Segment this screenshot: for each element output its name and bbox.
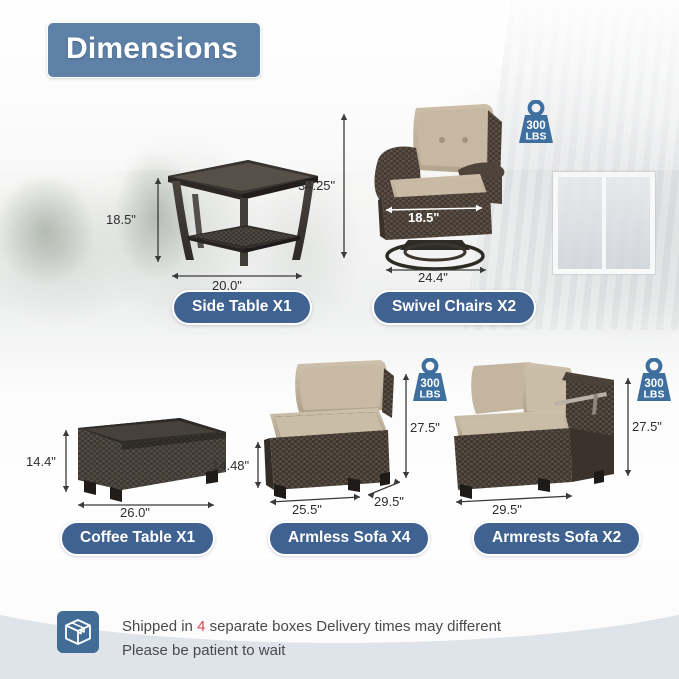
armless-sofa-depth-label: 29.5" [374, 494, 404, 509]
product-side-table: 18.5" 20.0" [150, 148, 340, 288]
label-swivel-chairs: Swivel Chairs X2 [372, 290, 536, 325]
side-table-illustration: 18.5" 20.0" [150, 148, 340, 288]
label-armless-sofa: Armless Sofa X4 [268, 521, 430, 556]
product-armrests-sofa: 27.5" 29.5" [446, 358, 646, 513]
label-armless-sofa-text: Armless Sofa X4 [288, 529, 410, 546]
shipping-line1-before: Shipped in [122, 618, 197, 635]
page-title: Dimensions [47, 22, 261, 78]
infographic-canvas: Dimensions [0, 0, 679, 679]
weight-badge-armrests-sofa: 300 LBS [634, 358, 674, 404]
armrests-sofa-illustration: 27.5" 29.5" [446, 358, 646, 513]
swivel-chair-illustration: 34.25" 18.5" 24.4" [330, 100, 545, 280]
label-coffee-table-text: Coffee Table X1 [80, 529, 195, 546]
armless-sofa-illustration: 27.5" 14.48" 25.5" 29.5" [228, 358, 428, 513]
swivel-chair-width-label: 24.4" [418, 270, 448, 285]
swivel-chair-seat-label: 18.5" [408, 210, 439, 225]
product-swivel-chair: 34.25" 18.5" 24.4" [330, 100, 545, 280]
armless-sofa-seat-height-label: 14.48" [212, 458, 250, 473]
weight-badge-unit: LBS [644, 389, 665, 401]
swivel-chair-height-label: 34.25" [298, 178, 336, 193]
label-armrests-sofa: Armrests Sofa X2 [472, 521, 641, 556]
armless-sofa-back-height-label: 27.5" [410, 420, 440, 435]
coffee-table-height-label: 14.4" [26, 454, 56, 469]
label-side-table-text: Side Table X1 [192, 298, 292, 315]
product-armless-sofa: 27.5" 14.48" 25.5" 29.5" [228, 358, 428, 513]
label-swivel-chairs-text: Swivel Chairs X2 [392, 298, 516, 315]
shipping-note-line2: Please be patient to wait [122, 639, 592, 663]
shipping-line1-after: separate boxes Delivery times may differ… [205, 618, 501, 635]
weight-badge-unit: LBS [526, 131, 547, 143]
background-window [553, 172, 655, 274]
shipping-note: Shipped in 4 separate boxes Delivery tim… [122, 615, 592, 663]
label-side-table: Side Table X1 [172, 290, 312, 325]
shipping-note-line1: Shipped in 4 separate boxes Delivery tim… [122, 615, 592, 639]
weight-badge-unit: LBS [420, 389, 441, 401]
weight-badge-swivel-chair: 300 LBS [516, 100, 556, 146]
page-title-text: Dimensions [66, 32, 238, 65]
label-coffee-table: Coffee Table X1 [60, 521, 215, 556]
weight-badge-armless-sofa: 300 LBS [410, 358, 450, 404]
armrests-sofa-height-label: 27.5" [632, 419, 662, 434]
package-box-icon [57, 611, 99, 653]
coffee-table-width-label: 26.0" [120, 505, 150, 520]
side-table-height-label: 18.5" [106, 212, 136, 227]
armless-sofa-width-label: 25.5" [292, 502, 322, 517]
armrests-sofa-width-label: 29.5" [492, 502, 522, 517]
label-armrests-sofa-text: Armrests Sofa X2 [492, 529, 621, 546]
